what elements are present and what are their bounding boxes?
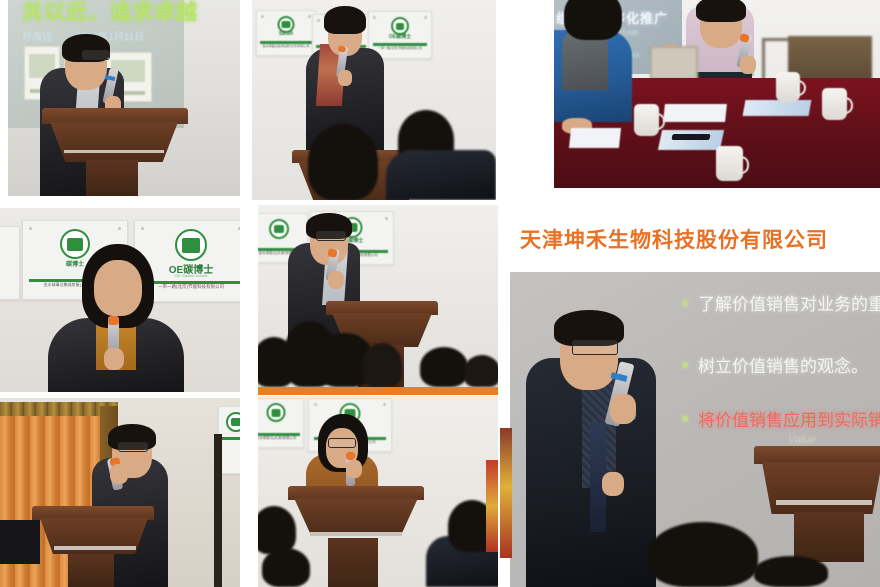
photo-bottom-middle[interactable]: 金水绿事达(天津)有限公司 OE碳博士 一带一路(北京)节能科技有限公司 [258, 396, 498, 587]
glasses-icon [118, 442, 148, 452]
photo-bottom-left[interactable] [0, 398, 240, 587]
photo-collage: 关以近、追求卓越 孙海远 2016年1月11日 [0, 0, 880, 587]
slide-bullet-1: 了解价值销售对业务的重 [682, 290, 880, 315]
slide-watermark: Value [788, 434, 816, 446]
photo-mid-left[interactable]: 碳博士 金水绿事达集成房屋(天津)有限公司 OE碳博士 OE Carbon Do… [0, 208, 240, 392]
glasses-icon [316, 231, 346, 241]
bullet-dot-icon [682, 300, 688, 306]
plaque-company-a: 一带一路(北京)节能科技有限公司 [369, 46, 431, 50]
poster-sliver [500, 428, 512, 558]
slide-bullet-3: 将价值销售应用到实际销 [682, 406, 880, 431]
photo-bottom-right[interactable]: 了解价值销售对业务的重 树立价值销售的观念。 将价值销售应用到实际销 Value [510, 272, 880, 587]
slide-bullet-2: 树立价值销售的观念。 [682, 352, 868, 377]
slide-title-top-left: 关以近、追求卓越 [22, 0, 198, 26]
photo-top-right[interactable]: 组建与程序化推广 产 发展 转型 升级 聚力创新 李海峰 北京高新技术服务促进协… [554, 0, 880, 188]
glasses-icon [572, 340, 618, 355]
glasses-icon [328, 438, 356, 448]
plaque-company-b: 金水绿事达集成房屋(天津)有限公司 [257, 44, 315, 48]
company-title: 天津坤禾生物科技股份有限公司 [520, 224, 828, 254]
slide-speaker-top-left: 孙海远 [22, 28, 52, 43]
photo-top-left[interactable]: 关以近、追求卓越 孙海远 2016年1月11日 [8, 0, 240, 196]
plaque-brand: OE碳博士 [369, 33, 431, 40]
divider-bar-middle [258, 387, 498, 395]
bullet-dot-icon [682, 362, 688, 368]
photo-mid-middle[interactable]: 金水绿事达(天津)有限公司 OE碳博士 一带一路(北京)节能科技有限公司 [258, 205, 498, 387]
photo-top-middle[interactable]: SEGR 金水绿事达集成房屋(天津)有限公司 OE 碳博士 OE碳博士 一带一路… [252, 0, 496, 200]
bullet-dot-icon [682, 416, 688, 422]
glasses-icon [82, 50, 110, 60]
